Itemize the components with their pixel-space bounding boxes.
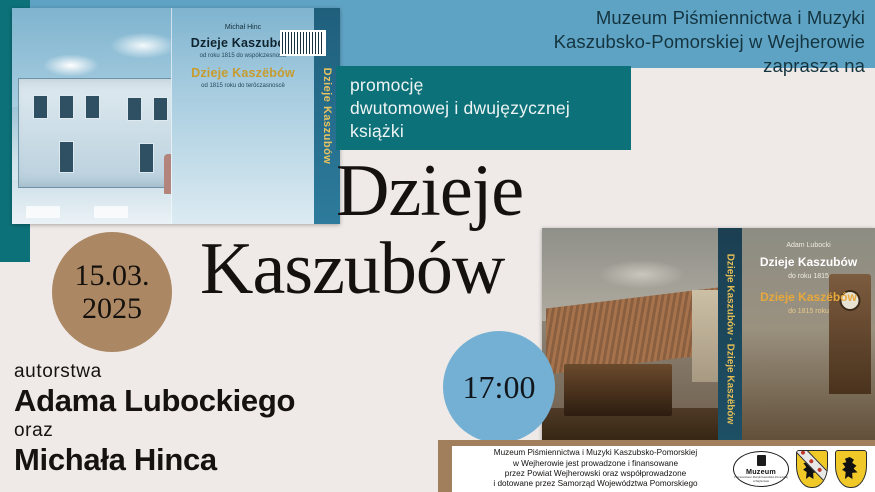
footer-line-4: i dotowane przez Samorząd Województwa Po… bbox=[458, 479, 733, 489]
event-poster: Muzeum Piśmiennictwa i Muzyki Kaszubsko-… bbox=[0, 0, 875, 492]
book2-subtitle-csb: od 1815 roku do terôczasnoscë bbox=[172, 83, 314, 89]
museum-header-line-1: Muzeum Piśmiennictwa i Muzyki bbox=[345, 6, 865, 30]
museum-logo-mark bbox=[757, 455, 766, 466]
invitation-line-3: książki bbox=[350, 120, 623, 143]
book1-front-cover: Adam Lubocki Dzieje Kaszubów do roku 181… bbox=[742, 228, 875, 450]
book1-interior-room bbox=[564, 364, 672, 416]
event-date-line-2: 2025 bbox=[82, 292, 142, 325]
book2-back-logos bbox=[26, 206, 128, 218]
event-date-badge: 15.03. 2025 bbox=[52, 232, 172, 352]
book1-spine: Dzieje Kaszubów · Dzieje Kaszëbów bbox=[718, 228, 742, 450]
book1-title-csb: Dzieje Kaszëbów bbox=[742, 290, 875, 304]
page-title-line-2: Kaszubów bbox=[196, 230, 616, 308]
invitation-line-1: promocję bbox=[350, 74, 623, 97]
footer-line-2: w Wejherowie jest prowadzone i finansowa… bbox=[458, 459, 733, 469]
powiat-wejherowski-coat-of-arms-icon bbox=[796, 450, 828, 488]
event-time-text: 17:00 bbox=[463, 369, 536, 406]
invitation-teal-box: promocję dwutomowej i dwujęzycznej książ… bbox=[336, 66, 631, 150]
book1-title-pl: Dzieje Kaszubów bbox=[742, 255, 875, 269]
book1-author: Adam Lubocki bbox=[742, 242, 875, 249]
footer-logos: Muzeum Piśmiennictwa i Muzyki Kaszubsko-… bbox=[733, 450, 875, 488]
author-name-2: Michała Hinca bbox=[14, 442, 295, 478]
museum-logo-icon: Muzeum Piśmiennictwa i Muzyki Kaszubsko-… bbox=[733, 451, 789, 487]
page-title: Dzieje Kaszubów bbox=[196, 152, 616, 308]
footer-funding-text: Muzeum Piśmiennictwa i Muzyki Kaszubsko-… bbox=[452, 448, 733, 490]
authors-label-1: autorstwa bbox=[14, 360, 295, 383]
footer-line-1: Muzeum Piśmiennictwa i Muzyki Kaszubsko-… bbox=[458, 448, 733, 458]
event-date-line-1: 15.03. bbox=[75, 259, 150, 292]
event-time-badge: 17:00 bbox=[443, 331, 555, 443]
pomorskie-coat-of-arms-icon bbox=[835, 450, 867, 488]
footer-line-3: przez Powiat Wejherowski oraz współprowa… bbox=[458, 469, 733, 479]
book2-title-csb: Dzieje Kaszëbów bbox=[172, 66, 314, 80]
footer-strip: Muzeum Piśmiennictwa i Muzyki Kaszubsko-… bbox=[452, 446, 875, 492]
book1-subtitle-csb: do 1815 roku bbox=[742, 308, 875, 315]
authors-block: autorstwa Adama Lubockiego oraz Michała … bbox=[14, 360, 295, 478]
page-title-line-1: Dzieje bbox=[196, 152, 616, 230]
museum-header-line-2: Kaszubsko-Pomorskiej w Wejherowie bbox=[345, 30, 865, 54]
invitation-line-2: dwutomowej i dwujęzycznej bbox=[350, 97, 623, 120]
museum-logo-subtitle: Piśmiennictwa i Muzyki Kaszubsko-Pomorsk… bbox=[734, 476, 788, 482]
barcode-icon bbox=[280, 30, 326, 56]
griffin-icon bbox=[841, 457, 859, 479]
museum-logo-name: Muzeum bbox=[746, 467, 776, 476]
book2-spine-text: Dzieje Kaszubów bbox=[321, 68, 333, 165]
authors-label-2: oraz bbox=[14, 419, 295, 442]
author-name-1: Adama Lubockiego bbox=[14, 383, 295, 419]
book1-spine-text: Dzieje Kaszubów · Dzieje Kaszëbów bbox=[725, 254, 736, 425]
book1-subtitle-pl: do roku 1815 bbox=[742, 273, 875, 280]
